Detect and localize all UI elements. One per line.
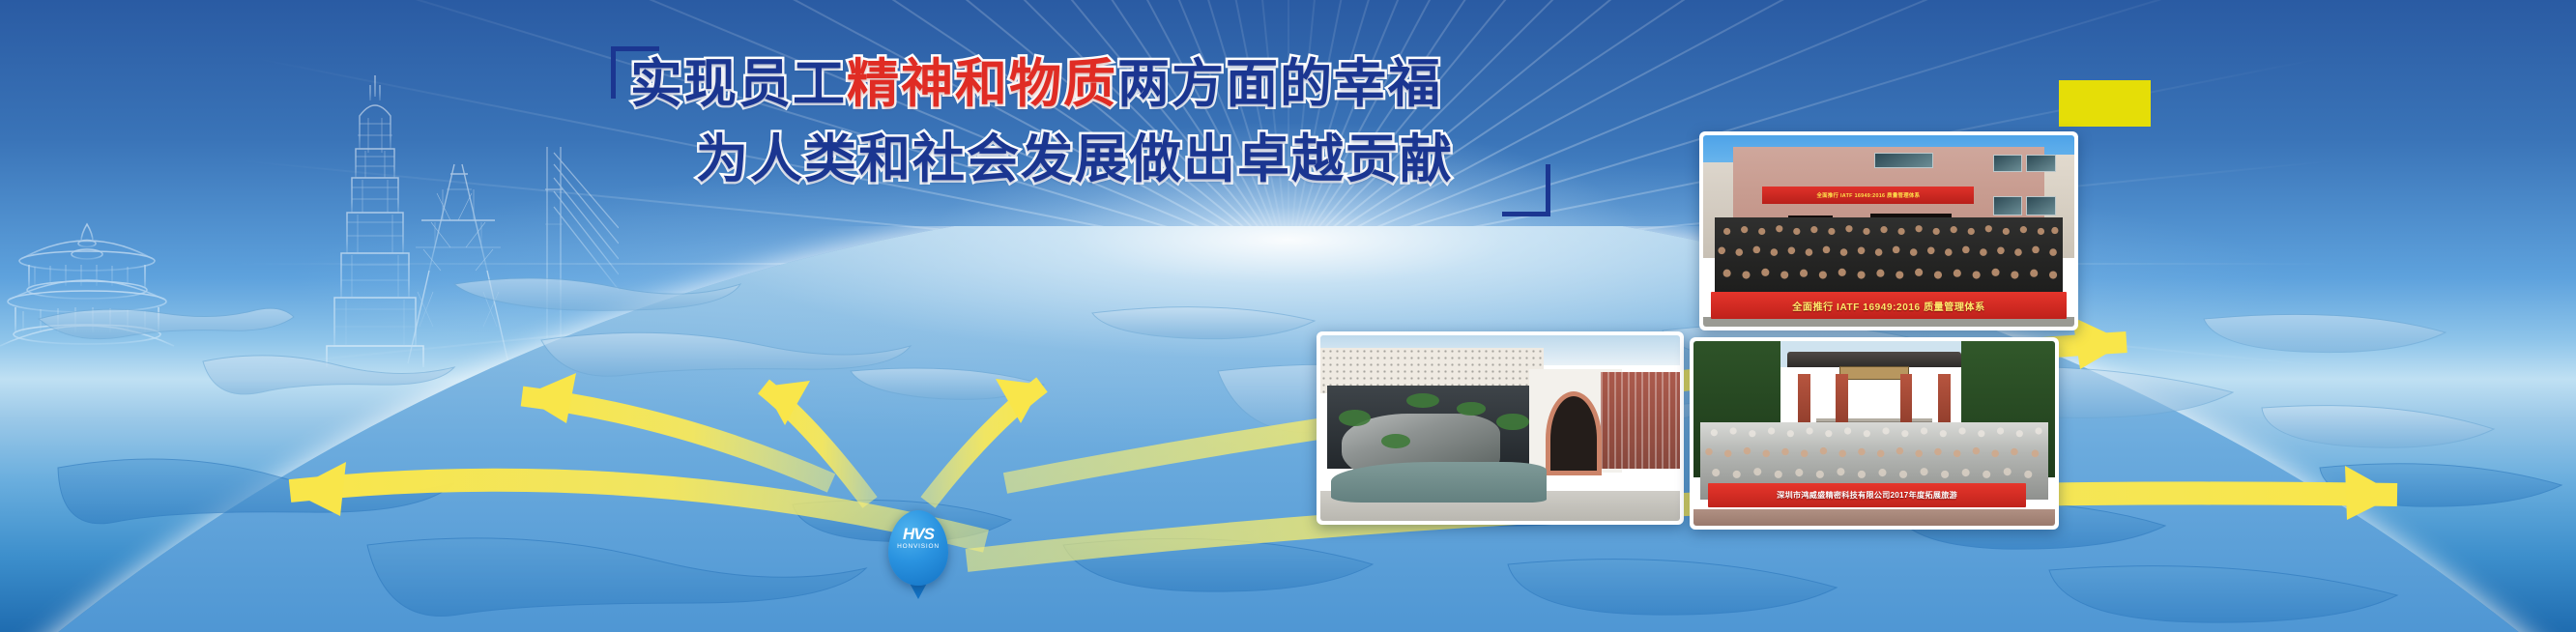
gate-pillar [1836,374,1848,430]
jin-mao-tower-icon [327,75,423,367]
sun-ray [245,263,1288,473]
cable-stayed-bridge-icon [493,147,619,340]
photo-outing-group[interactable]: 深圳市鸿威盛精密科技有限公司2017年度拓展旅游 [1690,337,2059,530]
factory-window [1993,155,2023,172]
globe [0,226,2576,632]
sun-ray [350,263,1288,632]
garden-planter [1457,402,1486,415]
arrow-left-outer [290,462,986,541]
sun-ray [403,263,1288,632]
temple-of-heaven-icon [0,224,174,346]
sun-ray [786,264,1288,632]
sun-ray [1080,264,1289,632]
pin-label-group: HVS HONVISION [888,526,948,551]
factory-upper-banner-text: 全面推行 IATF 16949:2016 质量管理体系 [1816,191,1920,199]
sun-ray [225,263,1288,265]
factory-window [2026,196,2056,215]
headline-seg-2: 精神和物质 [847,55,1117,113]
garden-pond-wall [1331,462,1547,503]
garden-pergola-slats [1601,372,1680,469]
sun-ray [1183,264,1289,632]
headline-seg-3: 两方面的幸福 [1117,55,1442,113]
sun-ray [271,263,1288,573]
arrow-center-left [764,381,870,503]
sun-ray [305,263,1288,632]
factory-main-banner: 全面推行 IATF 16949:2016 质量管理体系 [1711,292,2068,319]
corporate-banner: HVS HONVISION 实现员工精神和物质两方面的幸福 为人类和社会发展做出… [0,0,2576,632]
factory-crowd [1715,217,2064,302]
garden-pergola [1601,372,1680,469]
sun-ray [697,263,1289,632]
headline-seg-1: 实现员工 [630,55,847,113]
gate-plaque [1839,366,1909,380]
outing-banner-text: 深圳市鸿威盛精密科技有限公司2017年度拓展旅游 [1777,489,1957,501]
sun-ray [1288,264,1289,632]
continent-landmasses [0,226,2576,632]
eiffel-tower-icon [400,133,516,363]
headline-seg-4: 为人类和社会发展做出卓越贡献 [696,130,1454,188]
factory-window [1874,153,1933,168]
headline-line-2: 为人类和社会发展做出卓越贡献 [696,133,1537,186]
logo-name: HONVISION [888,544,948,551]
outing-ground [1693,509,2055,526]
garden-planter [1496,414,1528,430]
honvision-pin-logo[interactable]: HVS HONVISION [888,510,948,586]
headline-block: 实现员工精神和物质两方面的幸福 为人类和社会发展做出卓越贡献 [609,58,1537,186]
accent-square [2059,80,2151,127]
sun-ray [613,263,1288,632]
arrow-left-inner [522,373,831,483]
bracket-close-icon [1502,164,1550,216]
factory-upper-banner: 全面推行 IATF 16949:2016 质量管理体系 [1762,187,1974,204]
globe-sphere [0,226,2576,632]
outing-temple-gate [1787,352,1961,429]
arrow-center-right [928,379,1042,503]
photo-factory-group[interactable]: 全面推行 IATF 16949:2016 质量管理体系 [1699,131,2078,330]
garden-planter [1339,410,1371,426]
gate-pillar [1938,374,1951,430]
sun-ray [466,263,1289,632]
logo-mark: HVS [888,526,948,542]
gate-pillar [1900,374,1913,430]
factory-window [1993,196,2023,215]
garden-planter [1381,434,1410,448]
headline-line-1: 实现员工精神和物质两方面的幸福 [630,58,1537,110]
factory-window [2026,155,2056,172]
factory-main-banner-text: 全面推行 IATF 16949:2016 质量管理体系 [1792,299,1984,313]
photo-courtyard-garden[interactable] [1317,331,1684,525]
outing-banner: 深圳市鸿威盛精密科技有限公司2017年度拓展旅游 [1708,483,2026,507]
landmark-silhouettes [0,0,619,367]
bracket-open-icon [611,46,659,99]
garden-planter [1406,393,1438,408]
gate-pillar [1798,374,1810,430]
sun-ray [230,263,1288,369]
sun-ray [978,264,1288,632]
